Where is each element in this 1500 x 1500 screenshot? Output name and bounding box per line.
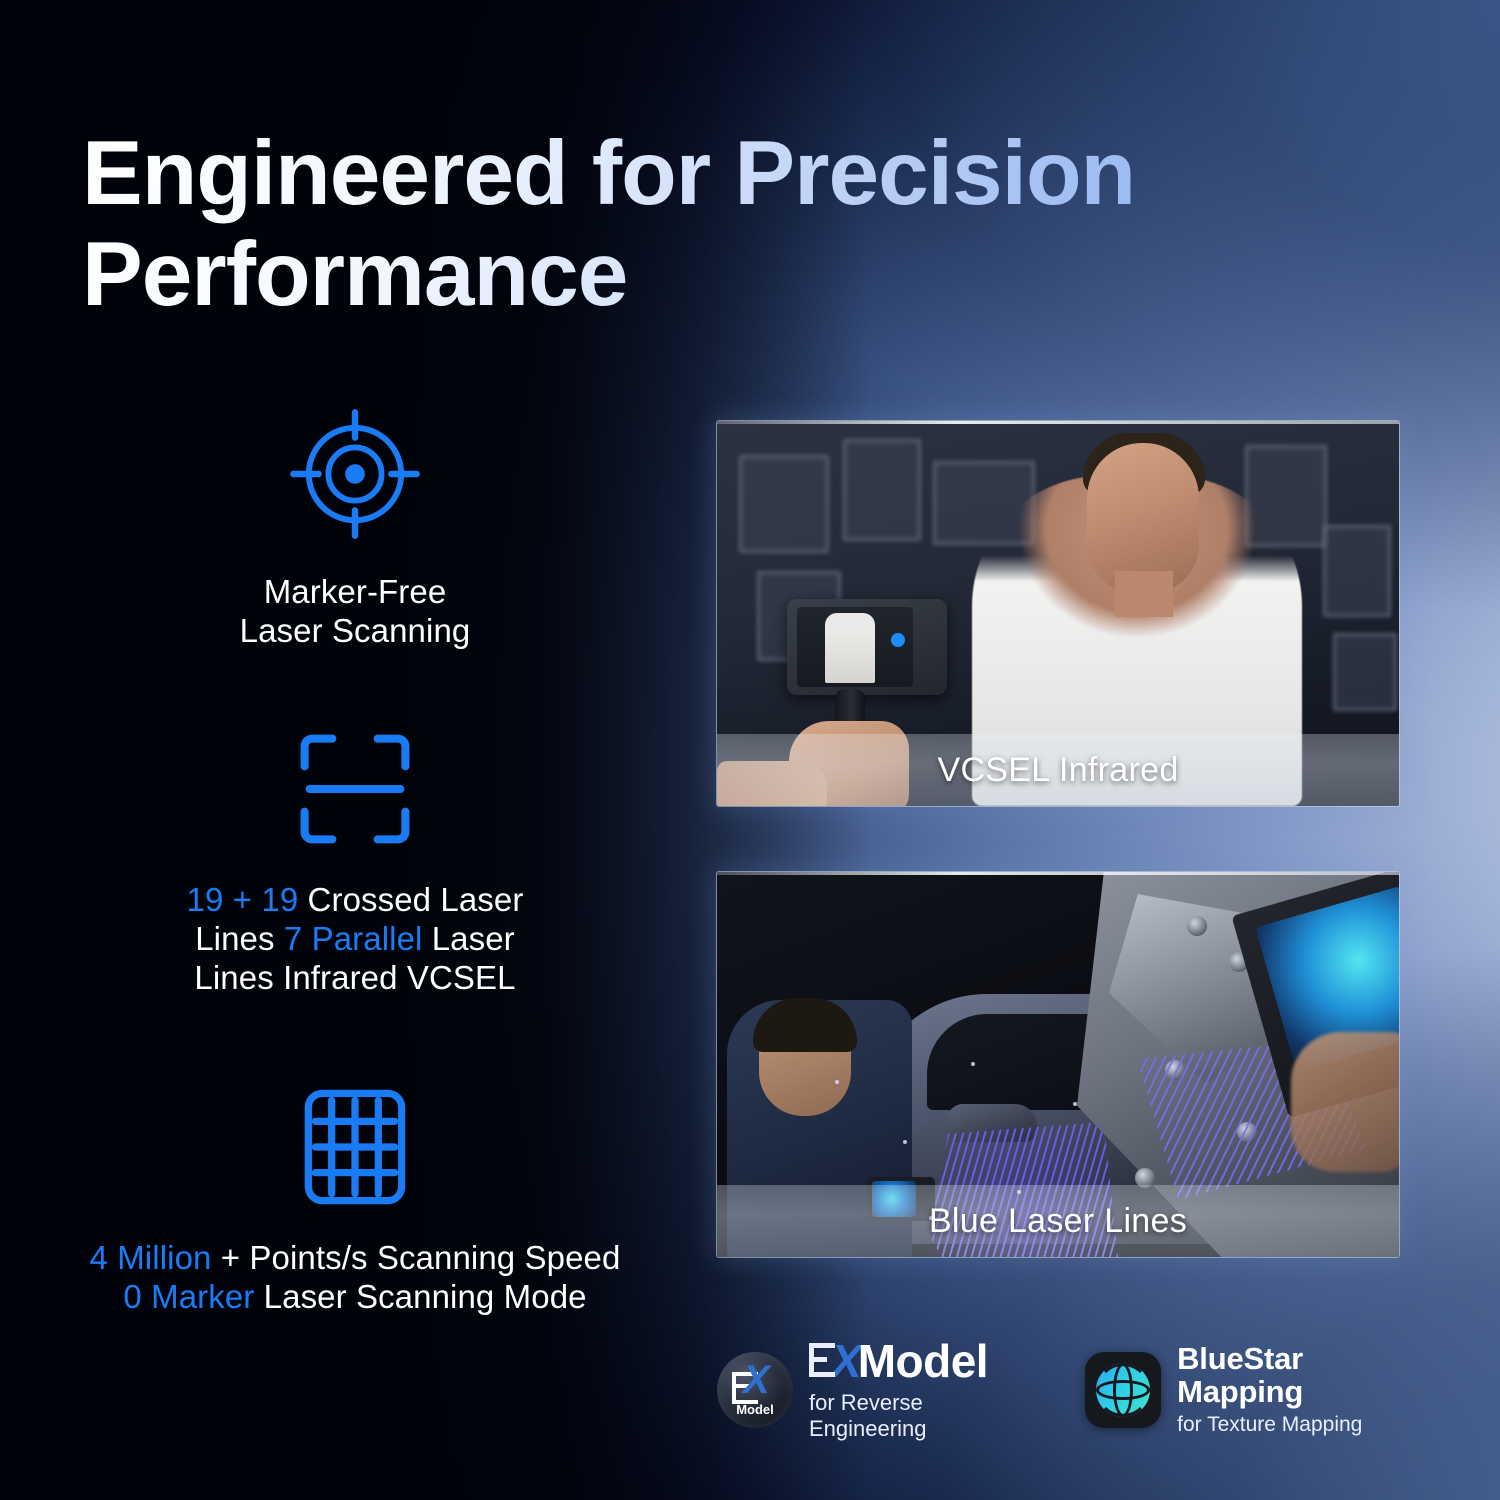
exmodel-wordmark: X Model for Reverse Engineering (809, 1338, 1027, 1442)
feature-text-line: Lines Infrared VCSEL (45, 959, 665, 998)
photo-caption-vcsel: VCSEL Infrared (937, 751, 1178, 790)
photo-top-highlight (717, 872, 1399, 875)
feature-text-marker-free: Marker-Free Laser Scanning (145, 573, 565, 651)
crosshair-target-icon (285, 404, 425, 549)
scan-frame-icon (292, 726, 418, 857)
bluestar-name: BlueStar Mapping (1177, 1343, 1417, 1408)
exmodel-name: X Model (809, 1338, 1027, 1384)
page-title: Engineered for Precision Performance (82, 123, 1362, 325)
feature-list: Marker-Free Laser Scanning (0, 404, 710, 1317)
person-neck (1115, 571, 1173, 617)
feature-segment: + Points/s Scanning Speed (211, 1239, 620, 1276)
photo-top-highlight (717, 421, 1399, 424)
exmodel-tagline: for Reverse Engineering (809, 1390, 1027, 1442)
page-title-line-1: Engineered for Precision (82, 123, 1135, 224)
wall-frame (843, 439, 921, 541)
feature-segment: Crossed Laser (298, 881, 523, 918)
exmodel-icon-letter-x: X (743, 1360, 770, 1400)
feature-item-marker-free: Marker-Free Laser Scanning (0, 404, 710, 651)
promo-banner: Engineered for Precision Performance Mar… (0, 0, 1500, 1500)
grid-points-icon (296, 1084, 414, 1215)
car-laser-scan-photo: Blue Laser Lines (717, 872, 1399, 1257)
wall-frame (739, 455, 829, 553)
feature-segment: Lines Infrared VCSEL (194, 959, 515, 996)
exmodel-letter-e-glyph (809, 1343, 835, 1377)
feature-text-scanning-speed: 4 Million + Points/s Scanning Speed 0 Ma… (45, 1239, 665, 1317)
media-column: VCSEL Infrared (717, 421, 1399, 1257)
globe-equator (1096, 1380, 1150, 1400)
feature-text-line: 0 Marker Laser Scanning Mode (45, 1278, 665, 1317)
feature-segment-accent: 7 Parallel (284, 920, 423, 957)
feature-segment: Laser (422, 920, 514, 957)
feature-text-line: 4 Million + Points/s Scanning Speed (45, 1239, 665, 1278)
dust-speck (835, 1080, 839, 1084)
operator-hand-blurred (1291, 1032, 1399, 1172)
bluestar-tagline: for Texture Mapping (1177, 1413, 1417, 1437)
feature-segment-accent: 19 + 19 (187, 881, 299, 918)
scanner-screen (797, 607, 913, 687)
feature-segment-accent: 0 Marker (123, 1278, 254, 1315)
wall-frame (1333, 633, 1397, 711)
exmodel-icon-sublabel: Model (717, 1402, 793, 1417)
photo-caption-band: Blue Laser Lines (717, 1185, 1399, 1257)
feature-text-line: Laser Scanning (145, 612, 565, 651)
photo-caption-band: VCSEL Infrared (717, 734, 1399, 806)
exmodel-app-icon: X Model (717, 1352, 793, 1428)
exmodel-name-rest: Model (858, 1338, 988, 1384)
partner-bluestar: BlueStar Mapping for Texture Mapping (1085, 1343, 1417, 1437)
scanner-screen-preview (825, 613, 875, 683)
feature-segment: Lines (195, 920, 284, 957)
feature-item-laser-lines: 19 + 19 Crossed Laser Lines 7 Parallel L… (0, 726, 710, 998)
dust-speck (971, 1062, 975, 1066)
feature-text-line: Lines 7 Parallel Laser (45, 920, 665, 959)
bluestar-globe-app-icon (1085, 1352, 1161, 1428)
feature-segment-accent: 4 Million (90, 1239, 212, 1276)
feature-text-laser-lines: 19 + 19 Crossed Laser Lines 7 Parallel L… (45, 881, 665, 998)
feature-segment: Laser Scanning Mode (254, 1278, 586, 1315)
bluestar-wordmark: BlueStar Mapping for Texture Mapping (1177, 1343, 1417, 1437)
page-title-line-2: Performance (82, 224, 627, 325)
partner-logo-row: X Model X Model for Reverse Engineering (717, 1330, 1417, 1450)
feature-segment: Marker-Free (264, 573, 447, 610)
feature-item-scanning-speed: 4 Million + Points/s Scanning Speed 0 Ma… (0, 1084, 710, 1317)
bolt (1187, 916, 1207, 936)
person-body-scan-photo: VCSEL Infrared (717, 421, 1399, 806)
dust-speck (1073, 1102, 1077, 1106)
feature-text-line: 19 + 19 Crossed Laser (45, 881, 665, 920)
feature-segment: Laser Scanning (240, 612, 471, 649)
feature-text-line: Marker-Free (145, 573, 565, 612)
scanner-record-button (891, 633, 905, 647)
partner-exmodel: X Model X Model for Reverse Engineering (717, 1338, 1027, 1442)
dust-speck (903, 1140, 907, 1144)
photo-caption-blue-laser: Blue Laser Lines (929, 1202, 1187, 1241)
wall-frame (1323, 525, 1391, 617)
